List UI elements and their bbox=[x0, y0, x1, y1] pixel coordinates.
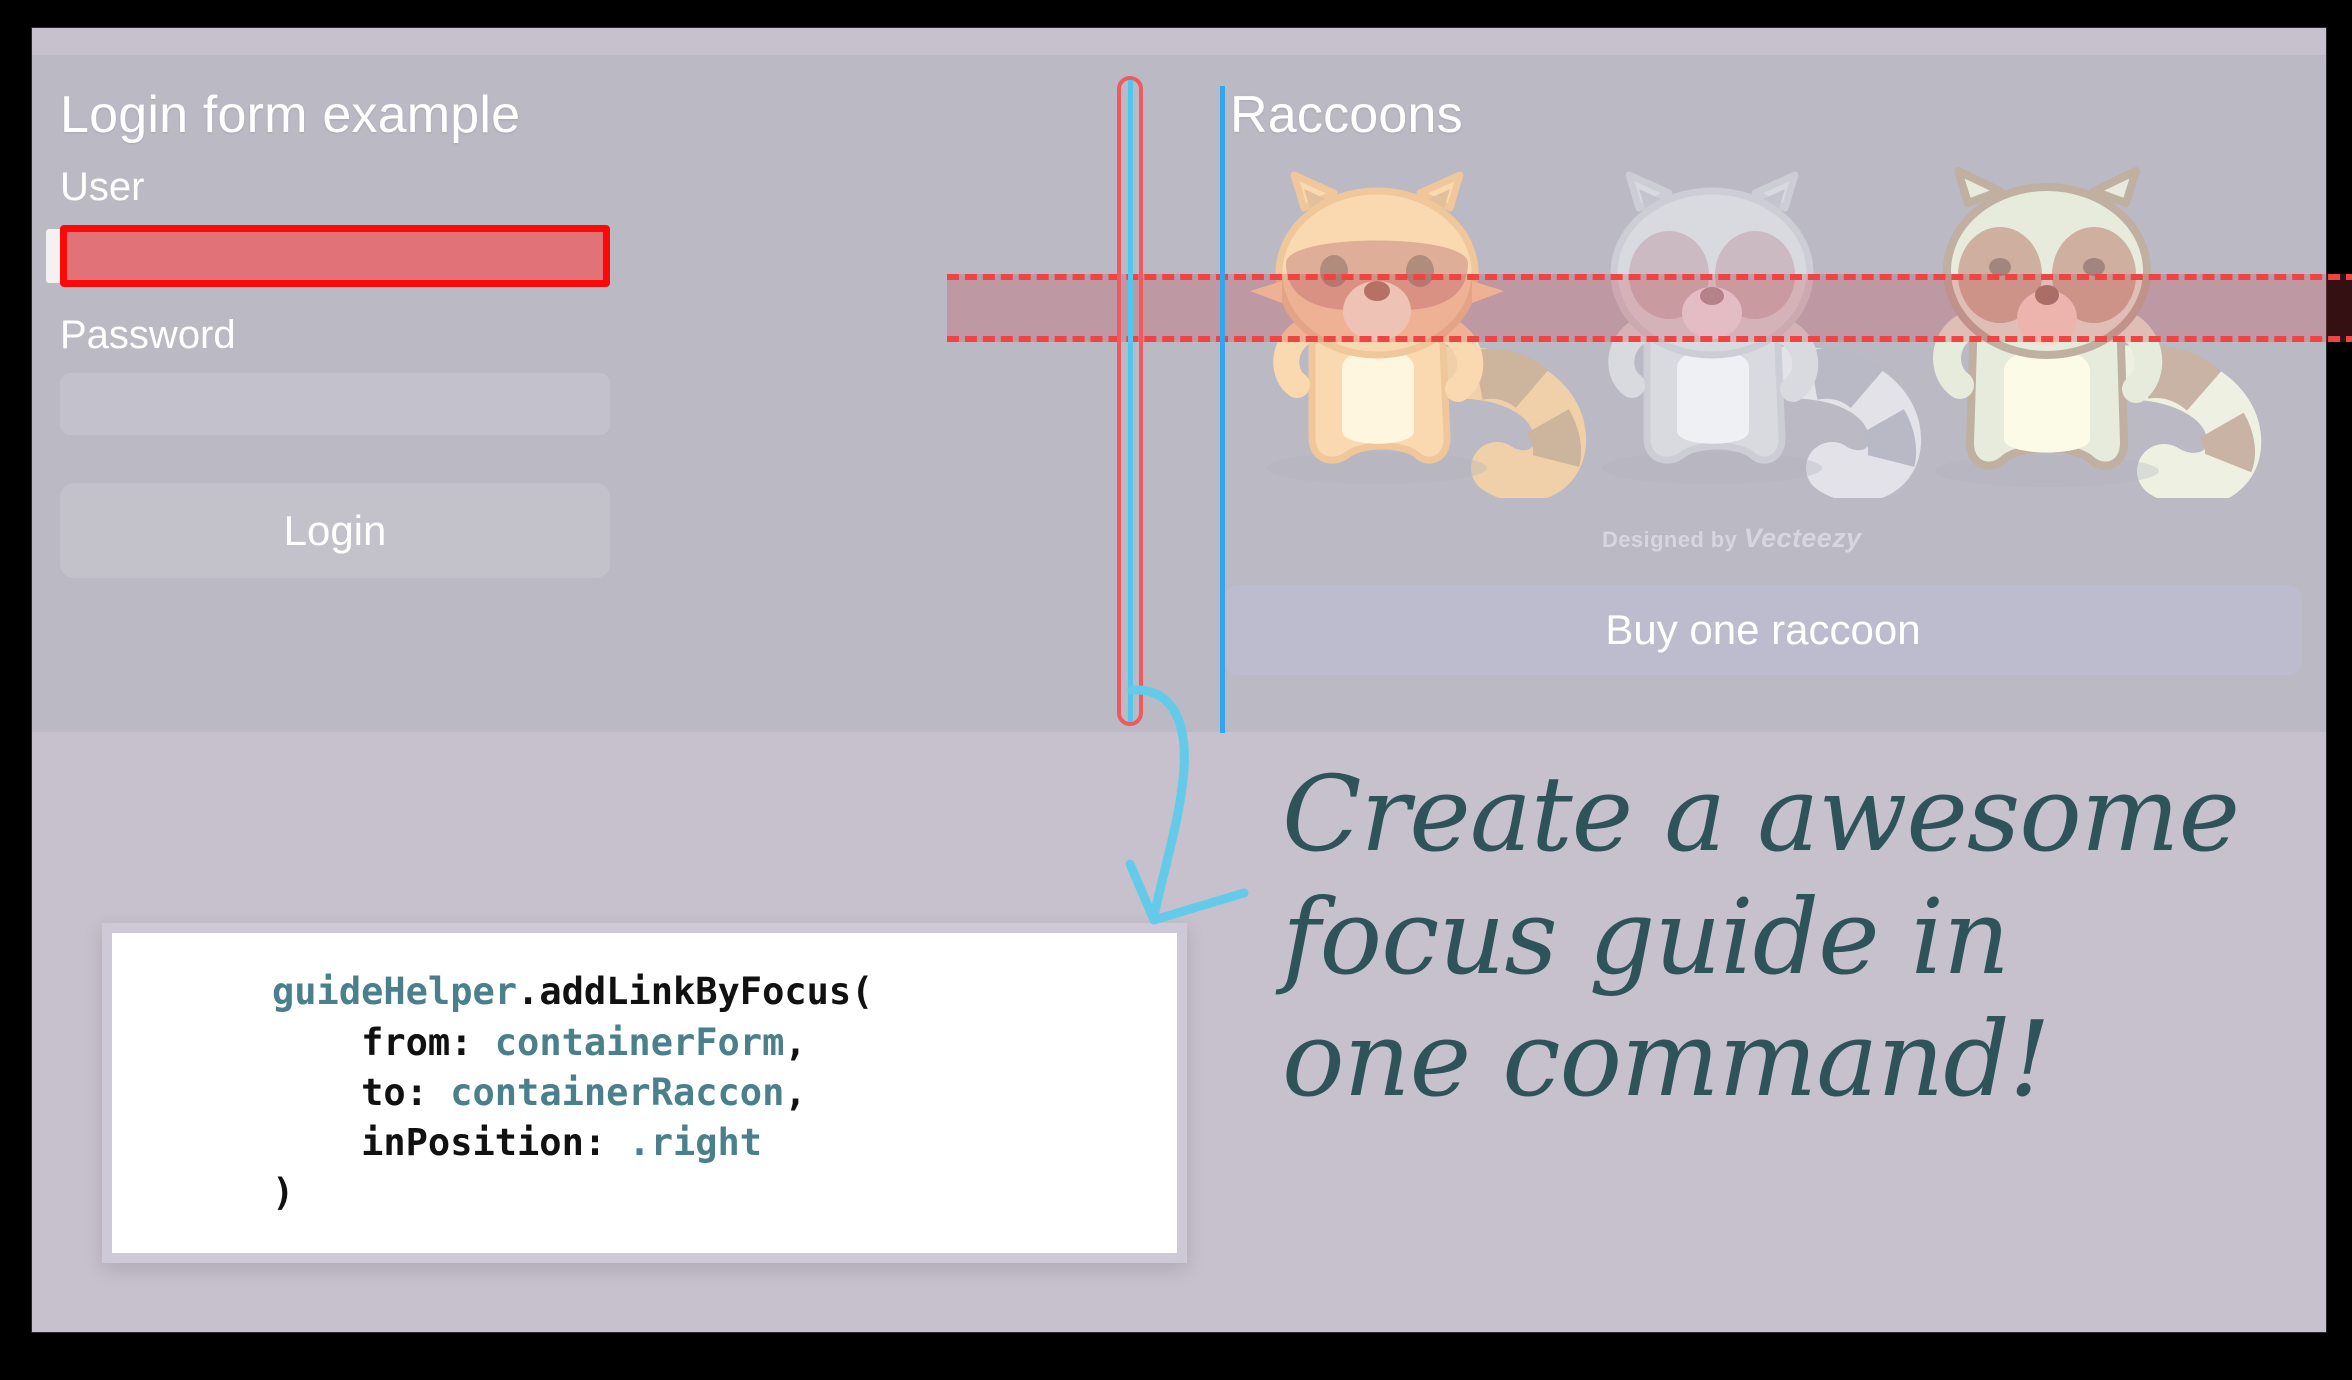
raccoon-orange-figure bbox=[1250, 175, 1560, 484]
code-line2-value: containerForm bbox=[495, 1021, 785, 1064]
vecteezy-prefix: Designed by bbox=[1602, 527, 1744, 552]
password-input[interactable] bbox=[60, 373, 610, 435]
slogan-line-2: focus guide in bbox=[1282, 876, 2342, 999]
page-surface: Login form example User Password Login R… bbox=[32, 28, 2326, 1332]
code-line4-value: .right bbox=[628, 1121, 762, 1164]
password-field-label: Password bbox=[60, 313, 236, 358]
slogan-line-1: Create a awesome bbox=[1282, 753, 2342, 876]
login-form-container: Login form example User Password Login bbox=[32, 55, 1202, 732]
user-field-wrapper bbox=[60, 225, 610, 287]
code-line2-label: from: bbox=[272, 1021, 495, 1064]
user-field-label: User bbox=[60, 165, 144, 210]
code-line4-label: inPosition: bbox=[272, 1121, 628, 1164]
code-snippet-card: guideHelper.addLinkByFocus( from: contai… bbox=[102, 923, 1187, 1263]
code-line3-label: to: bbox=[272, 1071, 450, 1114]
code-line2-comma: , bbox=[784, 1021, 806, 1064]
vecteezy-brand: Vecteezy bbox=[1744, 523, 1862, 553]
raccoon-gray-figure bbox=[1602, 175, 1895, 484]
login-form-title: Login form example bbox=[60, 85, 520, 145]
code-snippet-text: guideHelper.addLinkByFocus( from: contai… bbox=[272, 967, 873, 1219]
panels-band: Login form example User Password Login R… bbox=[32, 55, 2326, 732]
slogan-text: Create a awesome focus guide in one comm… bbox=[1282, 753, 2342, 1121]
raccoons-svg bbox=[1242, 163, 2312, 498]
code-line1-object: guideHelper bbox=[272, 970, 517, 1013]
raccoons-container: Raccoons bbox=[1202, 55, 2326, 732]
raccoon-cream-figure bbox=[1935, 171, 2234, 487]
screenshot-root: Login form example User Password Login R… bbox=[0, 0, 2352, 1380]
code-line3-comma: , bbox=[784, 1071, 806, 1114]
code-line5-close: ) bbox=[272, 1171, 294, 1214]
login-button[interactable]: Login bbox=[60, 483, 610, 578]
raccoons-title: Raccoons bbox=[1230, 85, 1463, 145]
buy-one-raccoon-button[interactable]: Buy one raccoon bbox=[1224, 585, 2302, 675]
user-input[interactable] bbox=[60, 225, 610, 287]
code-line1-method: .addLinkByFocus( bbox=[517, 970, 873, 1013]
vecteezy-watermark: Designed by Vecteezy bbox=[1602, 523, 1862, 554]
slogan-line-3: one command! bbox=[1282, 998, 2342, 1121]
code-line3-value: containerRaccon bbox=[450, 1071, 784, 1114]
raccoon-illustration-row bbox=[1242, 163, 2312, 498]
